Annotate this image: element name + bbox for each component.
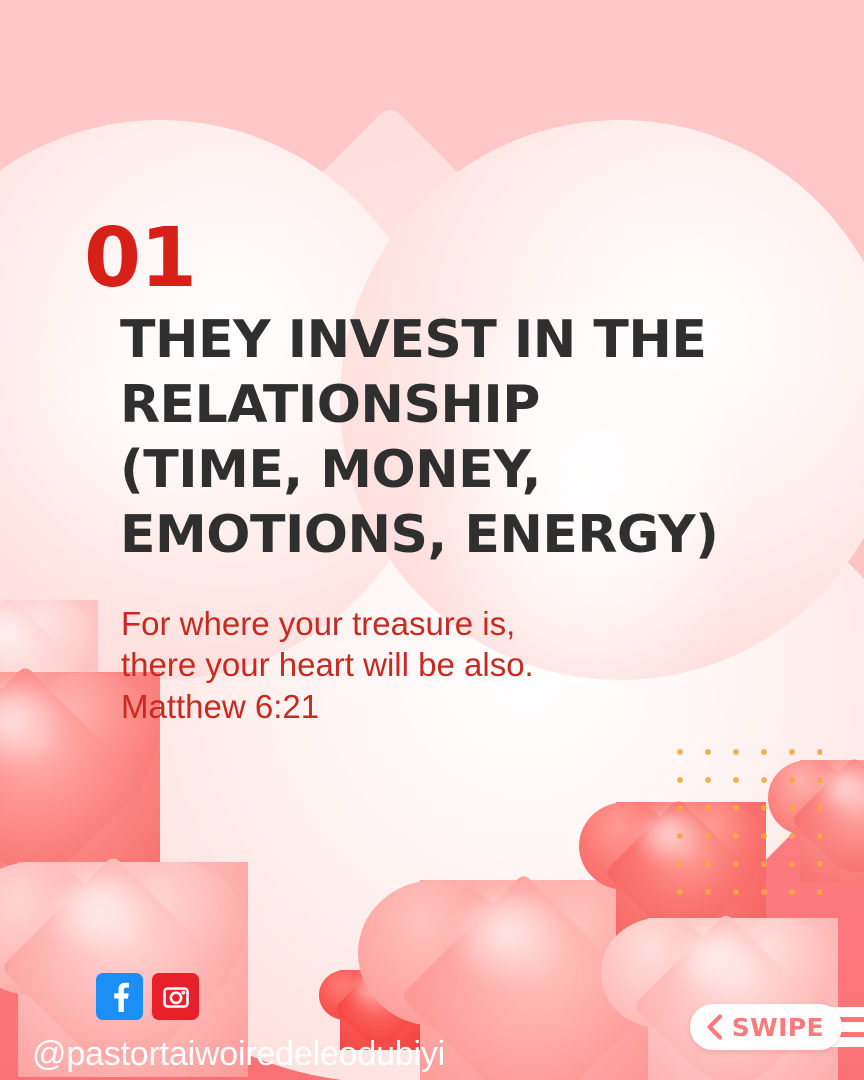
scripture-quote: For where your treasure is, there your h… <box>121 603 681 727</box>
social-post-canvas: 01 THEY INVEST IN THE RELATIONSHIP (TIME… <box>0 0 864 1080</box>
page-title: THEY INVEST IN THE RELATIONSHIP (TIME, M… <box>120 308 740 568</box>
social-handle: @pastortaiwoiredeleodubiyi <box>32 1035 445 1074</box>
verse-line-2: there your heart will be also. <box>121 644 681 685</box>
instagram-icon[interactable] <box>152 973 199 1020</box>
post-content: 01 THEY INVEST IN THE RELATIONSHIP (TIME… <box>0 0 864 1080</box>
swipe-pill[interactable]: SWIPE <box>690 1004 842 1050</box>
facebook-icon[interactable] <box>96 973 143 1020</box>
swipe-indicator[interactable]: SWIPE <box>690 1004 842 1050</box>
item-number: 01 <box>84 218 196 300</box>
social-icons <box>96 973 199 1020</box>
chevron-left-icon <box>706 1014 723 1040</box>
verse-reference: Matthew 6:21 <box>121 686 681 727</box>
swipe-label: SWIPE <box>732 1013 824 1042</box>
verse-line-1: For where your treasure is, <box>121 603 681 644</box>
